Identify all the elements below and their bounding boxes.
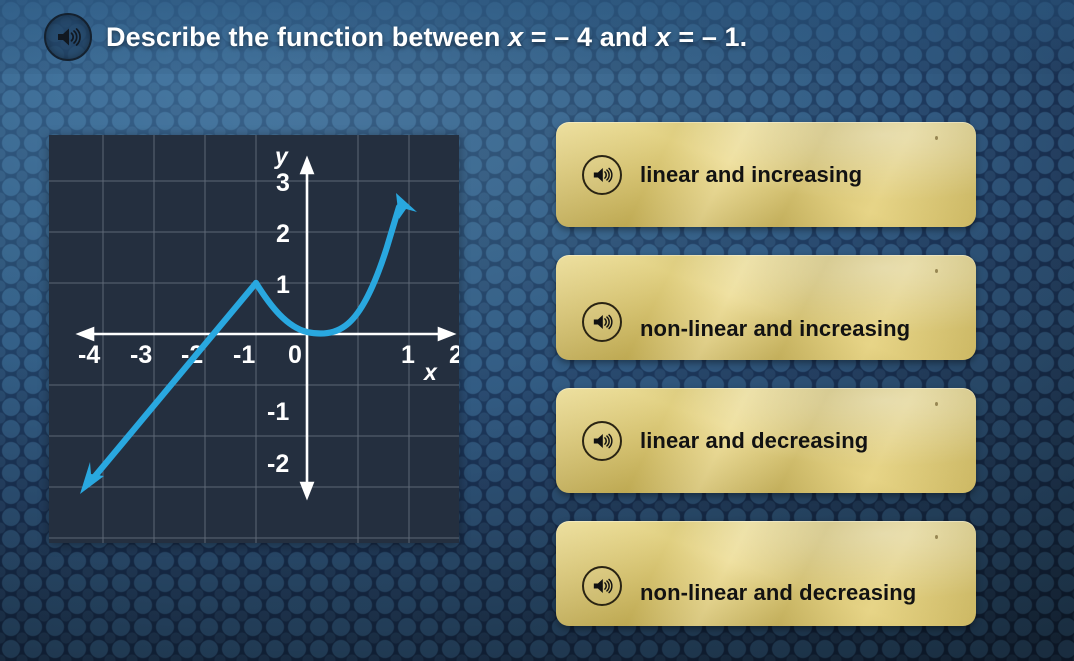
y-tick-2: 2	[276, 220, 290, 248]
x-tick--3: -3	[130, 341, 152, 369]
header: Describe the function between x = – 4 an…	[0, 0, 1074, 74]
option-linear-and-decreasing[interactable]: linear and decreasing	[556, 388, 976, 493]
title-variable-1: x	[508, 22, 523, 52]
x-tick-1: 1	[401, 341, 415, 369]
x-axis-label: x	[422, 359, 438, 385]
option-label: linear and decreasing	[640, 428, 868, 454]
page-title: Describe the function between x = – 4 an…	[106, 22, 747, 53]
paper-speck	[935, 269, 938, 273]
paper-speck	[935, 535, 938, 539]
speaker-icon[interactable]	[582, 155, 622, 195]
speaker-icon[interactable]	[582, 302, 622, 342]
speaker-icon[interactable]	[44, 13, 92, 61]
paper-speck	[935, 136, 938, 140]
y-tick--2: -2	[267, 450, 289, 478]
speaker-icon[interactable]	[582, 566, 622, 606]
title-prefix: Describe the function between	[106, 22, 508, 52]
title-middle: = – 4 and	[523, 22, 655, 52]
option-linear-and-increasing[interactable]: linear and increasing	[556, 122, 976, 227]
y-tick--1: -1	[267, 398, 289, 426]
x-tick-2: 2	[449, 341, 459, 369]
graph-panel: -4 -3 -2 -1 0 1 2 3 2 1 -1 -2 x y	[49, 135, 459, 543]
x-tick--1: -1	[233, 341, 255, 369]
x-tick-0: 0	[288, 341, 302, 369]
title-variable-2: x	[656, 22, 671, 52]
option-label: linear and increasing	[640, 162, 862, 188]
y-axis-label: y	[274, 143, 289, 169]
y-tick-1: 1	[276, 271, 290, 299]
option-label: non-linear and decreasing	[640, 580, 916, 606]
speaker-icon[interactable]	[582, 421, 622, 461]
option-non-linear-and-decreasing[interactable]: non-linear and decreasing	[556, 521, 976, 626]
answer-options: linear and increasing non-linear and inc…	[556, 122, 976, 654]
option-label: non-linear and increasing	[640, 316, 910, 342]
y-tick-3: 3	[276, 169, 290, 197]
function-graph: -4 -3 -2 -1 0 1 2 3 2 1 -1 -2 x y	[49, 135, 459, 543]
paper-speck	[935, 402, 938, 406]
x-tick--4: -4	[78, 341, 100, 369]
title-suffix: = – 1.	[671, 22, 748, 52]
option-non-linear-and-increasing[interactable]: non-linear and increasing	[556, 255, 976, 360]
